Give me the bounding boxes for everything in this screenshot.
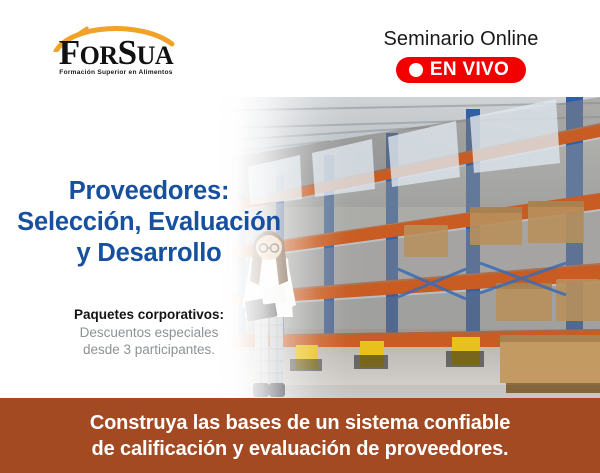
packages-title: Paquetes corporativos:	[6, 306, 292, 324]
logo-letters-or: OR	[80, 41, 118, 70]
bottom-line-2: de calificación y evaluación de proveedo…	[90, 436, 510, 462]
headline-line-1: Proveedores:	[6, 176, 292, 207]
live-dot-icon	[409, 63, 423, 77]
logo-letter-f: F	[59, 33, 80, 72]
packages-line-1: Descuentos especiales	[6, 324, 292, 342]
live-badge-label: EN VIVO	[430, 60, 509, 79]
banner-header: FORSUA Formación Superior en Alimentos S…	[0, 0, 600, 97]
forsua-logo[interactable]: FORSUA Formación Superior en Alimentos	[38, 22, 194, 78]
corporate-packages-block: Paquetes corporativos: Descuentos especi…	[6, 306, 292, 359]
packages-line-2: desde 3 participantes.	[6, 341, 292, 359]
logo-tagline: Formación Superior en Alimentos	[38, 69, 194, 76]
logo-letters-ua: UA	[137, 41, 174, 70]
live-seminar-block: Seminario Online EN VIVO	[346, 28, 576, 83]
seminar-title: Seminario Online	[346, 28, 576, 50]
headline-line-2: Selección, Evaluación	[6, 207, 292, 238]
bottom-line-1: Construya las bases de un sistema confia…	[90, 410, 510, 436]
logo-wordmark: FORSUA	[38, 35, 194, 70]
headline-line-3: y Desarrollo	[6, 238, 292, 269]
promo-banner: FORSUA Formación Superior en Alimentos S…	[0, 0, 600, 473]
logo-letter-s: S	[118, 33, 137, 72]
live-badge[interactable]: EN VIVO	[396, 57, 526, 83]
bottom-message: Construya las bases de un sistema confia…	[90, 410, 510, 462]
bottom-message-bar: Construya las bases de un sistema confia…	[0, 398, 600, 473]
page-title: Proveedores: Selección, Evaluación y Des…	[6, 176, 292, 269]
